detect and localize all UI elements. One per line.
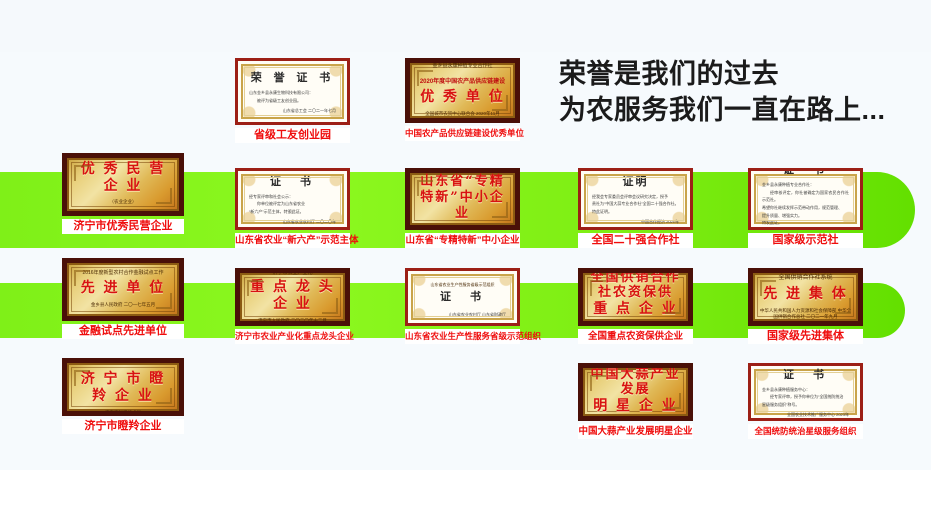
certificate-title: 证明 [623,173,649,189]
plaque-main-text: 重 点 企 业 [593,301,678,318]
plaque-signature: 济宁市人民政府 二〇二〇年十二月 [258,318,327,325]
plaque-top-text: 济 宁 市 [114,153,132,158]
plaque-signature: 中共济宁市委 济宁市人民政府 二〇一九年四月 [77,211,170,216]
award-caption: 济宁市优秀民营企业 [62,219,184,234]
plaque-image: 种子（山东省永康生物科技有限公司） 山东省“专精特新”中小企业 山东省工业和信息… [405,168,520,230]
certificate-title: 证 书 [783,168,828,177]
plaque-image: 金乡县永康种植专业合作社联合社 全国供销合作社农资保供 重 点 企 业 中华全国… [578,268,693,326]
plaque-top-text: 济宁市农业产业化 [272,270,312,277]
award-item[interactable]: 济宁市农业产业化 重 点 龙 头 企 业 济宁市人民政府 二〇二〇年十二月 济宁… [235,268,350,344]
certificate-line: 你单位被评定为山东省农业 [249,200,336,208]
plaque-image: 济宁市农业产业化 重 点 龙 头 企 业 济宁市人民政府 二〇二〇年十二月 [235,268,350,326]
award-caption: 国家级示范社 [748,233,863,248]
certificate-line: 金乡县永康种植专业合作社： [762,181,849,189]
plaque-signature: 中华全国供销合作总社农业生产资料局 二〇二二年二月 [588,323,683,327]
award-item[interactable]: 种子（山东省永康生物科技有限公司） 山东省“专精特新”中小企业 山东省工业和信息… [405,168,520,248]
certificate-title: 荣 誉 证 书 [251,69,335,85]
award-item[interactable]: 证 书 金乡县永康种植专业合作社： 经审核评定，你社被确定为国家农民合作社示范社… [748,168,863,248]
headline-line-2: 为农服务我们一直在路上... [559,92,931,128]
certificate-line: 经审核评定，你社被确定为国家农民合作社示范社。 [762,189,849,204]
award-caption: 山东省“专精特新”中小企业 [405,233,520,248]
bottom-background-strip [0,470,931,520]
plaque-signature: 金乡县人民政府 二〇一七年五月 [91,302,155,309]
certificate-image: 荣 誉 证 书 山东金乡县永康生物科技有限公司： 被评为省级工友创业园。 山东省… [235,58,350,125]
certificate-signature: 山东省农业农村厅 山东省财政厅 [449,312,506,318]
award-caption: 全国二十强合作社 [578,233,693,248]
plaque-top-text: 2021-2022年度 [619,363,653,364]
certificate-signature: 山东省总工会 二〇二一年七月 [283,108,336,114]
certificate-line: 经专家评审，授予你单位为“全国统防统治 [762,393,849,401]
award-item[interactable]: 2016年度新型农村合作金融试点工作 先 进 单 位 金乡县人民政府 二〇一七年… [62,258,184,339]
certificate-title: 证 书 [440,288,485,304]
award-caption: 省级工友创业园 [235,128,350,143]
plaque-top-text: 济宁市永康生物科技有限公司 [90,358,155,364]
award-item[interactable]: 荣 誉 证 书 山东金乡县永康生物科技有限公司： 被评为省级工友创业园。 山东省… [235,58,350,143]
certificate-title: 证 书 [270,173,315,189]
certificate-line: 希望你社继续发挥示范带动作用，规范管理、 [762,204,849,212]
plaque-main-text: 先 进 集 体 [763,286,848,303]
award-item[interactable]: 证明 经我会专家委员会评审会议研究决定，授予 贵社为“中国大蒜专业合作社”全国二… [578,168,693,248]
award-item[interactable]: 山东省农业生产性服务省级示范组织 证 书 山东省农业农村厅 山东省财政厅 山东省… [405,268,520,344]
plaque-image: 全国供销合作社系统 先 进 集 体 中华人民共和国人力资源和社会保障部 中华全国… [748,268,863,326]
plaque-main-text: 山东省“专精特新”中小企业 [415,174,510,221]
top-background-strip [0,0,931,52]
certificate-line: 提升质量、增强实力。 [762,212,849,220]
plaque-note-text: （农业企业） [110,199,137,206]
certificate-line: 特发此证。 [762,219,849,227]
award-item[interactable]: 2021-2022年度 中国大蒜产业发展 明 星 企 业 中国大蒜产业发展大会 … [578,363,693,439]
headline-line-1: 荣誉是我们的过去 [559,56,931,92]
plaque-image: 金乡县永康种植专业合作社 2020年度中国农产品供应链建设 优 秀 单 位 全国… [405,58,520,123]
plaque-subtitle: 全国供销合作社农资保供 [588,270,683,301]
certificate-title: 证 书 [783,366,828,382]
plaque-subtitle: 中国大蒜产业发展 [588,367,683,398]
plaque-top-text: 2016年度新型农村合作金融试点工作 [82,270,163,277]
award-item[interactable]: 金乡县永康种植专业合作社 2020年度中国农产品供应链建设 优 秀 单 位 全国… [405,58,520,141]
plaque-image: 济宁市永康生物科技有限公司 济 宁 市 瞪 羚 企 业 济宁市科学技术局 [62,358,184,416]
certificate-body: 经专家评审和社会公示： 你单位被评定为山东省农业 “新六产”示范主体，特颁此证。 [249,193,336,216]
plaque-signature: 中国大蒜产业发展大会 2022年6月 [602,420,670,421]
plaque-signature: 中华人民共和国人力资源和社会保障部 中华全国供销合作总社 二〇二一年九月 [758,308,853,322]
certificate-line: 被评为省级工友创业园。 [249,97,336,105]
certificate-line: 金乡县永康种植服务中心： [762,386,849,394]
certificate-line: “新六产”示范主体，特颁此证。 [249,208,336,216]
certificate-signature: 中国合作经济 2021年 [641,219,679,225]
award-caption: 中国大蒜产业发展明星企业 [578,424,693,439]
plaque-subtitle: 2020年度中国农产品供应链建设 [420,78,505,87]
award-caption: 山东省农业生产性服务省级示范组织 [405,329,520,344]
plaque-signature: 山东省工业和信息化厅 [440,226,485,230]
plaque-image: 2021-2022年度 中国大蒜产业发展 明 星 企 业 中国大蒜产业发展大会 … [578,363,693,421]
plaque-main-text: 重 点 龙 头 企 业 [245,279,340,313]
award-caption: 济宁市瞪羚企业 [62,419,184,434]
plaque-main-text: 优 秀 单 位 [420,89,505,106]
award-item[interactable]: 证 书 经专家评审和社会公示： 你单位被评定为山东省农业 “新六产”示范主体，特… [235,168,350,248]
plaque-main-text: 先 进 单 位 [81,280,166,297]
award-caption: 金融试点先进单位 [62,324,184,339]
award-caption: 国家级先进集体 [748,329,863,344]
award-item[interactable]: 证 书 金乡县永康种植服务中心： 经专家评审，授予你单位为“全国统防统治 星级服… [748,363,863,439]
award-caption: 全国重点农资保供企业 [578,329,693,344]
certificate-body: 金乡县永康种植服务中心： 经专家评审，授予你单位为“全国统防统治 星级服务组织”… [762,386,849,409]
certificate-signature: 山东省农业农村厅 二〇二〇年 [283,219,336,225]
certificate-image: 证明 经我会专家委员会评审会议研究决定，授予 贵社为“中国大蒜专业合作社”全国二… [578,168,693,230]
certificate-body: 山东金乡县永康生物科技有限公司： 被评为省级工友创业园。 [249,89,336,104]
award-item[interactable]: 金乡县永康种植专业合作社联合社 全国供销合作社农资保供 重 点 企 业 中华全国… [578,268,693,344]
certificate-image: 证 书 金乡县永康种植服务中心： 经专家评审，授予你单位为“全国统防统治 星级服… [748,363,863,421]
award-item[interactable]: 济 宁 市 优 秀 民 营 企 业 （农业企业） 中共济宁市委 济宁市人民政府 … [62,153,184,234]
certificate-signature: 全国农业技术推广服务中心 2023年 [787,412,849,418]
certificate-line: 经专家评审和社会公示： [249,193,336,201]
award-item[interactable]: 全国供销合作社系统 先 进 集 体 中华人民共和国人力资源和社会保障部 中华全国… [748,268,863,344]
plaque-main-text: 优 秀 民 营 企 业 [72,161,174,195]
certificate-line: 山东金乡县永康生物科技有限公司： [249,89,336,97]
certificate-image: 证 书 金乡县永康种植专业合作社： 经审核评定，你社被确定为国家农民合作社示范社… [748,168,863,230]
honors-wall-page: 荣誉是我们的过去 为农服务我们一直在路上... 济 宁 市 优 秀 民 营 企 … [0,0,931,520]
page-headline: 荣誉是我们的过去 为农服务我们一直在路上... [559,56,931,128]
award-caption: 中国农产品供应链建设优秀单位 [405,126,520,141]
plaque-top-text: 全国供销合作社系统 [778,275,832,283]
award-caption: 全国统防统治星级服务组织 [748,424,863,439]
certificate-line: 星级服务组织”称号。 [762,401,849,409]
plaque-signature: 全国城市农贸中心联合会 2020年11月 [425,111,499,118]
certificate-image: 证 书 经专家评审和社会公示： 你单位被评定为山东省农业 “新六产”示范主体，特… [235,168,350,230]
plaque-signature: 济宁市科学技术局 [105,410,141,416]
certificate-body: 金乡县永康种植专业合作社： 经审核评定，你社被确定为国家农民合作社示范社。 希望… [762,181,849,227]
certificate-line: 特此证明。 [592,208,679,216]
plaque-top-text: 种子（山东省永康生物科技有限公司） [420,168,505,171]
certificate-line: 经我会专家委员会评审会议研究决定，授予 [592,193,679,201]
plaque-image: 济 宁 市 优 秀 民 营 企 业 （农业企业） 中共济宁市委 济宁市人民政府 … [62,153,184,216]
award-caption: 济宁市农业产业化重点龙头企业 [235,329,350,344]
certificate-image: 山东省农业生产性服务省级示范组织 证 书 山东省农业农村厅 山东省财政厅 [405,268,520,326]
plaque-top-text: 金乡县永康种植专业合作社 [432,63,492,70]
certificate-body: 经我会专家委员会评审会议研究决定，授予 贵社为“中国大蒜专业合作社”全国二十强合… [592,193,679,216]
certificate-line: 贵社为“中国大蒜专业合作社”全国二十强合作社。 [592,200,679,208]
award-item[interactable]: 济宁市永康生物科技有限公司 济 宁 市 瞪 羚 企 业 济宁市科学技术局 济宁市… [62,358,184,434]
plaque-main-text: 明 星 企 业 [593,398,678,415]
plaque-image: 2016年度新型农村合作金融试点工作 先 进 单 位 金乡县人民政府 二〇一七年… [62,258,184,321]
award-caption: 山东省农业“新六产”示范主体 [235,233,350,248]
plaque-main-text: 济 宁 市 瞪 羚 企 业 [72,371,174,405]
